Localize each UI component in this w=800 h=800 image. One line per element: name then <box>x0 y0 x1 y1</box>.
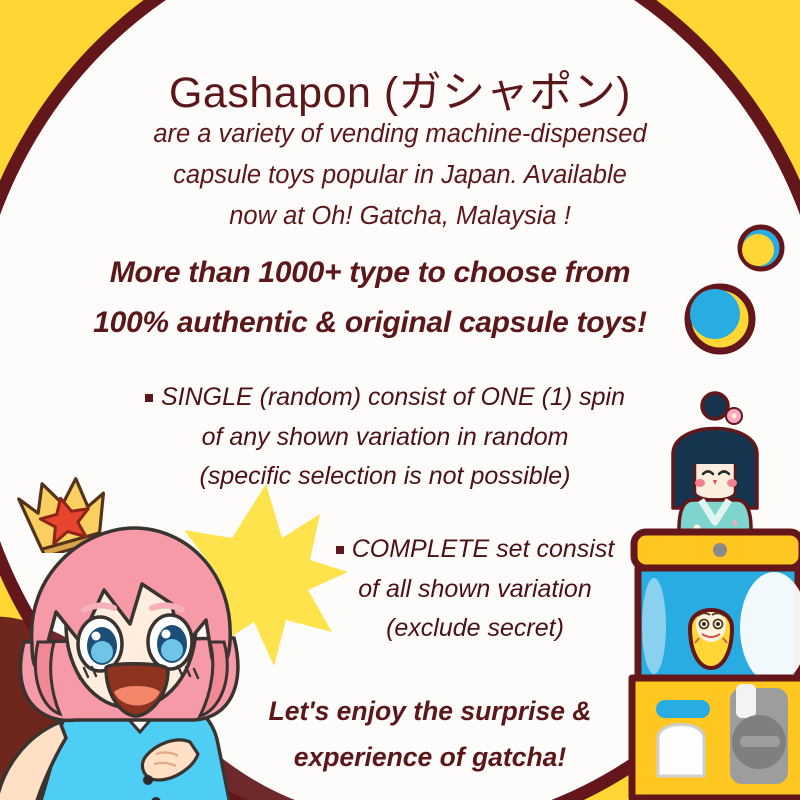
bullet-complete-line-1: COMPLETE set consist <box>280 530 670 570</box>
highlight-paragraph: More than 1000+ type to choose from 100%… <box>40 248 700 348</box>
bullet-item-complete: COMPLETE set consist of all shown variat… <box>280 530 670 649</box>
highlight-line-2: 100% authentic & original capsule toys! <box>40 298 700 348</box>
subtitle-line-1: are a variety of vending machine-dispens… <box>100 114 700 155</box>
poster-text-content: Gashapon (ガシャポン) are a variety of vendin… <box>0 0 800 800</box>
closing-line-2: experience of gatcha! <box>215 734 645 780</box>
square-bullet-icon <box>336 546 344 554</box>
highlight-line-1: More than 1000+ type to choose from <box>40 248 700 298</box>
bullet-single-line-1: SINGLE (random) consist of ONE (1) spin <box>120 378 650 418</box>
bullet-complete-line-2: of all shown variation <box>280 570 670 610</box>
bullet-complete-line-3: (exclude secret) <box>280 609 670 649</box>
subtitle-line-3: now at Oh! Gatcha, Malaysia ! <box>100 196 700 237</box>
subtitle-paragraph: are a variety of vending machine-dispens… <box>100 114 700 237</box>
closing-paragraph: Let's enjoy the surprise & experience of… <box>215 688 645 780</box>
bullet-single-text-1: SINGLE (random) consist of ONE (1) spin <box>161 383 625 411</box>
bullet-single-line-3: (specific selection is not possible) <box>120 457 650 497</box>
square-bullet-icon <box>145 394 153 402</box>
gashapon-promo-poster: Gashapon (ガシャポン) are a variety of vendin… <box>0 0 800 800</box>
page-title: Gashapon (ガシャポン) <box>0 58 800 120</box>
closing-line-1: Let's enjoy the surprise & <box>215 688 645 734</box>
bullet-item-single: SINGLE (random) consist of ONE (1) spin … <box>120 378 650 497</box>
bullet-single-line-2: of any shown variation in random <box>120 418 650 458</box>
subtitle-line-2: capsule toys popular in Japan. Available <box>100 155 700 196</box>
bullet-complete-text-1: COMPLETE set consist <box>352 535 615 563</box>
